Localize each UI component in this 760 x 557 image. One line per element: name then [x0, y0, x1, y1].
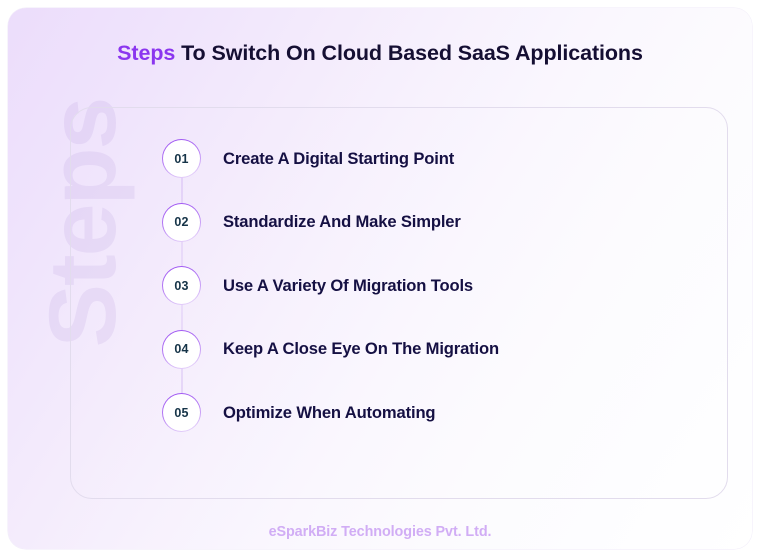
- steps-list: 01 Create A Digital Starting Point 02 St…: [162, 139, 662, 432]
- step-number-badge: 02: [162, 203, 201, 242]
- step-number-text: 05: [174, 406, 188, 420]
- page-title-accent: Steps: [117, 41, 175, 65]
- list-item[interactable]: 04 Keep A Close Eye On The Migration: [162, 330, 662, 369]
- step-label: Optimize When Automating: [223, 403, 435, 423]
- step-number-text: 03: [174, 279, 188, 293]
- list-item[interactable]: 02 Standardize And Make Simpler: [162, 203, 662, 242]
- page-title-rest: To Switch On Cloud Based SaaS Applicatio…: [175, 41, 643, 65]
- step-number-badge: 04: [162, 330, 201, 369]
- step-label: Create A Digital Starting Point: [223, 149, 454, 169]
- step-number-badge: 03: [162, 266, 201, 305]
- step-label: Standardize And Make Simpler: [223, 212, 461, 232]
- infographic-stage: Steps Steps To Switch On Cloud Based Saa…: [0, 0, 760, 557]
- list-item[interactable]: 05 Optimize When Automating: [162, 393, 662, 432]
- step-label: Keep A Close Eye On The Migration: [223, 339, 499, 359]
- step-number-text: 02: [174, 215, 188, 229]
- page-title: Steps To Switch On Cloud Based SaaS Appl…: [0, 41, 760, 66]
- footer-brand: eSparkBiz Technologies Pvt. Ltd.: [0, 524, 760, 540]
- list-item[interactable]: 03 Use A Variety Of Migration Tools: [162, 266, 662, 305]
- list-item[interactable]: 01 Create A Digital Starting Point: [162, 139, 662, 178]
- step-label: Use A Variety Of Migration Tools: [223, 276, 473, 296]
- step-number-text: 01: [174, 152, 188, 166]
- step-number-text: 04: [174, 342, 188, 356]
- step-number-badge: 05: [162, 393, 201, 432]
- step-number-badge: 01: [162, 139, 201, 178]
